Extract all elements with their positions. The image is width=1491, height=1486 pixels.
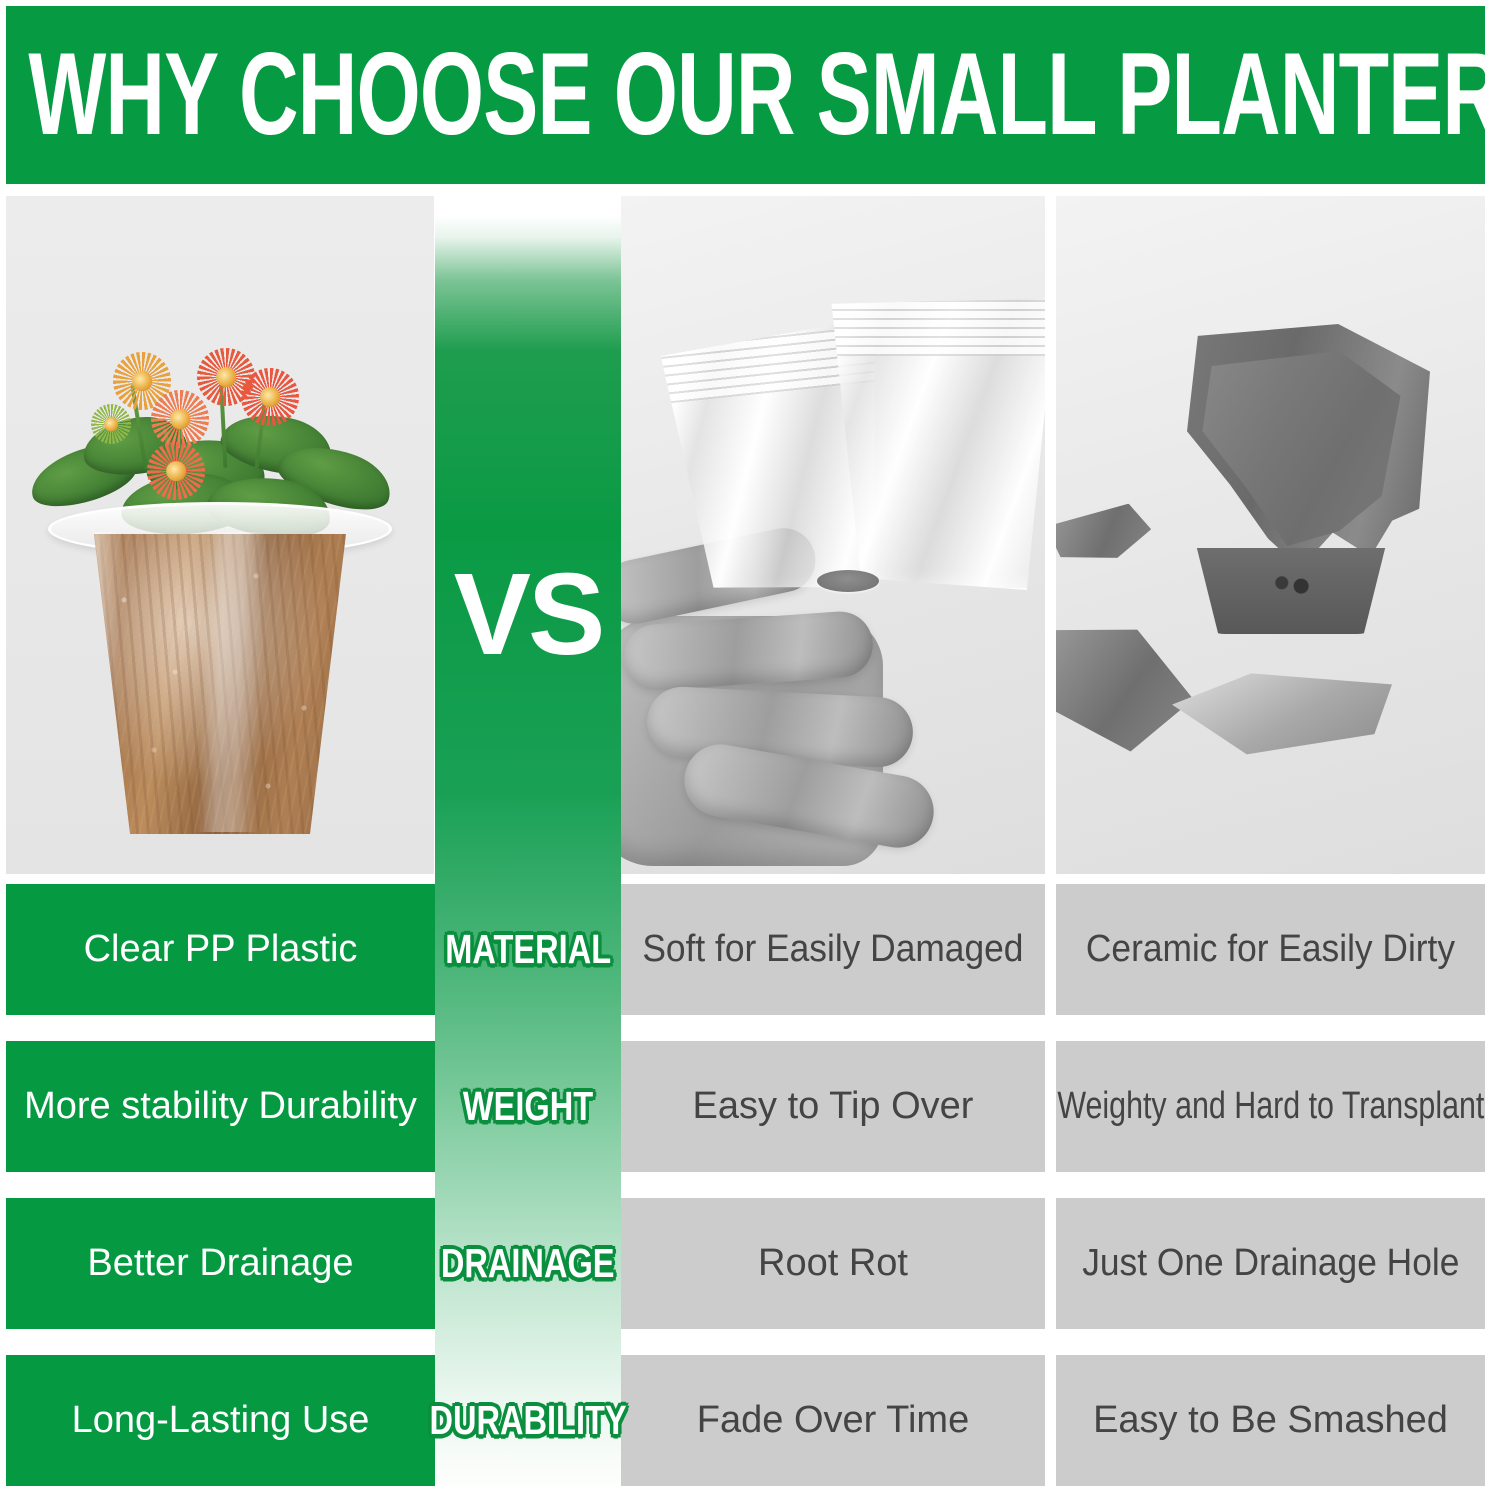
competitor-photo-thin-plastic bbox=[621, 196, 1045, 874]
photo-background bbox=[621, 196, 1045, 874]
ceramic-shard bbox=[1056, 620, 1200, 757]
table-row: Long-Lasting Use DURABILITY Fade Over Ti… bbox=[0, 1355, 1491, 1486]
cell-competitor-c: Ceramic for Easily Dirty bbox=[1056, 884, 1485, 1015]
cell-ours: Long-Lasting Use bbox=[6, 1355, 435, 1486]
header-banner: WHY CHOOSE OUR SMALL PLANTER POTS? bbox=[6, 6, 1485, 184]
attribute-label: WEIGHT bbox=[463, 1083, 593, 1129]
cell-competitor-b: Root Rot bbox=[621, 1198, 1045, 1329]
attribute-label: DURABILITY bbox=[429, 1397, 626, 1443]
table-row: Clear PP Plastic MATERIAL Soft for Easil… bbox=[0, 884, 1491, 1015]
cell-competitor-b: Fade Over Time bbox=[621, 1355, 1045, 1486]
drainage-hole bbox=[817, 570, 879, 592]
infographic-page: WHY CHOOSE OUR SMALL PLANTER POTS? bbox=[0, 0, 1491, 1486]
cell-attribute: MATERIAL bbox=[435, 884, 621, 1015]
cell-competitor-c: Just One Drainage Hole bbox=[1056, 1198, 1485, 1329]
photo-strip bbox=[0, 196, 1491, 874]
cell-ours: More stability Durability bbox=[6, 1041, 435, 1172]
cell-competitor-b: Easy to Tip Over bbox=[621, 1041, 1045, 1172]
competitor-photo-ceramic bbox=[1056, 196, 1485, 874]
cell-attribute: DRAINAGE bbox=[435, 1198, 621, 1329]
cell-competitor-c: Easy to Be Smashed bbox=[1056, 1355, 1485, 1486]
comparison-table: Clear PP Plastic MATERIAL Soft for Easil… bbox=[0, 884, 1491, 1486]
cell-ours: Better Drainage bbox=[6, 1198, 435, 1329]
page-title: WHY CHOOSE OUR SMALL PLANTER POTS? bbox=[6, 36, 1485, 153]
cell-ours: Clear PP Plastic bbox=[6, 884, 435, 1015]
cell-competitor-b: Soft for Easily Damaged bbox=[621, 884, 1045, 1015]
attribute-label: DRAINAGE bbox=[441, 1240, 615, 1286]
cell-attribute: DURABILITY bbox=[435, 1355, 621, 1486]
photo-background bbox=[1056, 196, 1485, 874]
drainage-debris bbox=[1268, 574, 1314, 596]
ceramic-shard bbox=[1172, 666, 1392, 758]
product-photo-ours bbox=[6, 196, 434, 874]
attribute-label: MATERIAL bbox=[445, 926, 611, 972]
cell-attribute: WEIGHT bbox=[435, 1041, 621, 1172]
versus-label: VS bbox=[435, 556, 621, 672]
table-row: More stability Durability WEIGHT Easy to… bbox=[0, 1041, 1491, 1172]
ceramic-shard bbox=[1056, 501, 1156, 577]
table-row: Better Drainage DRAINAGE Root Rot Just O… bbox=[0, 1198, 1491, 1329]
cell-competitor-c: Weighty and Hard to Transplant bbox=[1056, 1041, 1485, 1172]
